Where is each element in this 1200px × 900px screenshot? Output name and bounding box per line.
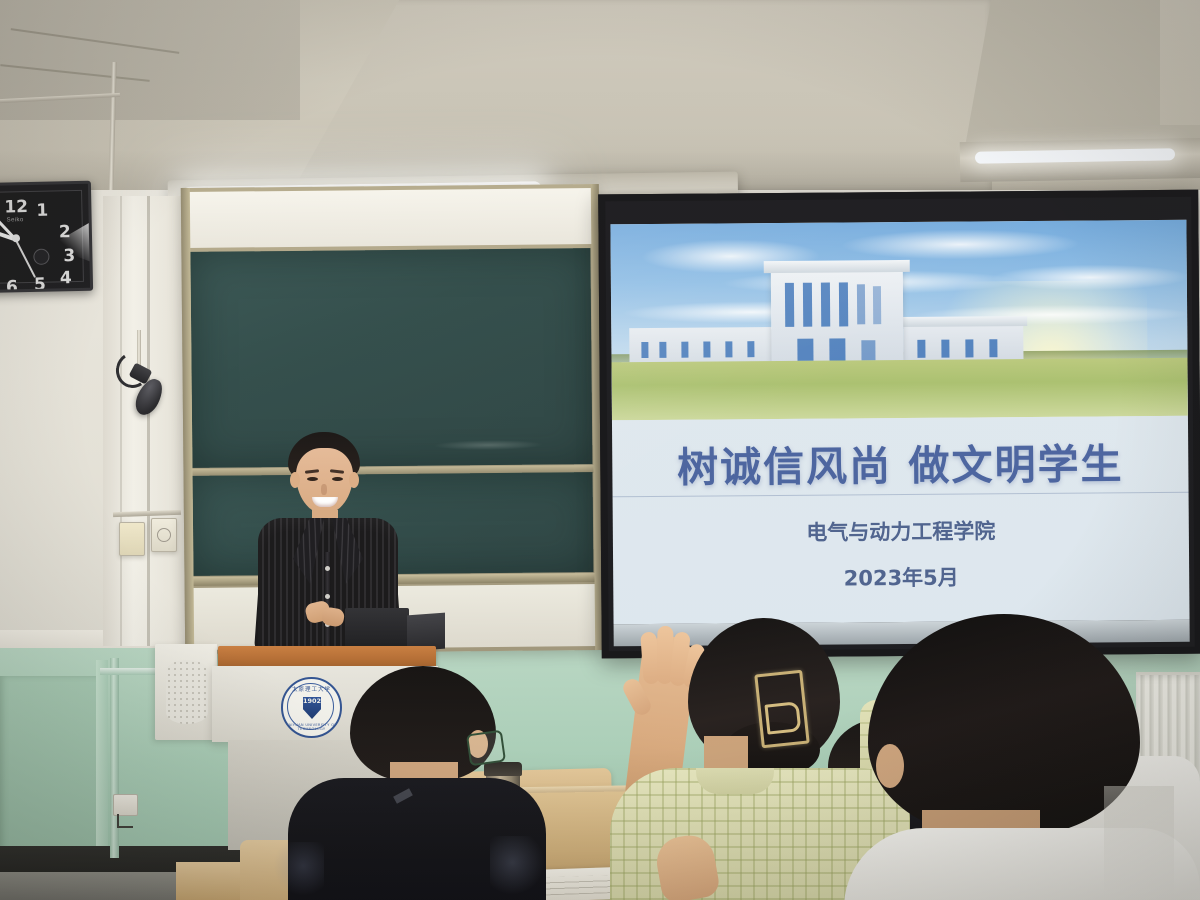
shirt-fold: [1104, 786, 1174, 896]
blackboard-top-panel: [186, 188, 595, 248]
power-outlet[interactable]: [113, 794, 138, 816]
cloud: [840, 229, 1080, 261]
audience-student-white-shirt: [858, 614, 1200, 900]
pillar-seam: [120, 196, 122, 646]
slide-title: 树诚信风尚 做文明学生: [612, 430, 1188, 495]
wall-pipe: [110, 658, 119, 858]
ceiling-beam: [1160, 0, 1200, 125]
presenter-ear: [290, 472, 300, 488]
podium-wood-top: [218, 646, 436, 668]
clock-numeral: 12: [4, 197, 28, 217]
campus-building-main: [771, 268, 904, 367]
cloud: [991, 264, 1188, 292]
presenter-eye: [332, 477, 343, 481]
presenter-eye: [307, 477, 318, 481]
student-hair: [868, 614, 1140, 836]
pillar-seam: [147, 196, 150, 646]
clock-numeral: 5: [34, 275, 46, 294]
clock-numeral: 1: [36, 201, 48, 221]
podium-laptop[interactable]: [345, 608, 409, 650]
clock-numeral: 4: [60, 268, 72, 288]
wall-clock: 11 12 1 2 3 4 5 6 7 Seiko: [0, 181, 93, 294]
slide-date: 2023年5月: [613, 560, 1189, 595]
clock-numeral: 6: [6, 277, 18, 293]
campus-lawn: [612, 358, 1188, 421]
chalk-residue: [433, 440, 543, 451]
slide-organization: 电气与动力工程学院: [613, 514, 1189, 549]
shirt-collar: [696, 768, 774, 794]
ceiling-tiles: [0, 0, 300, 120]
presentation-slide: 树诚信风尚 做文明学生 电气与动力工程学院 2023年5月: [610, 220, 1189, 625]
presenter-nose: [321, 484, 327, 495]
presenter-ear: [349, 472, 359, 488]
student-ear: [876, 744, 904, 788]
wall-switch-plate[interactable]: [151, 518, 177, 552]
slide-header-photo: [610, 220, 1188, 421]
audience-student-black-jacket: [272, 666, 562, 900]
hair-clip-icon: [754, 670, 809, 749]
wall-niche-edge: [96, 660, 108, 860]
presenter-jacket-button: [325, 566, 330, 571]
wall-niche: [0, 676, 100, 852]
jacket-print: [490, 836, 546, 900]
wall-switch-plate[interactable]: [119, 522, 145, 556]
jacket-print: [272, 842, 324, 900]
speaker-grill-icon: [166, 660, 208, 724]
projection-screen: 树诚信风尚 做文明学生 电气与动力工程学院 2023年5月: [598, 190, 1200, 659]
presenter-jacket-button: [325, 594, 330, 599]
classroom-photo: 11 12 1 2 3 4 5 6 7 Seiko: [0, 0, 1200, 900]
clock-brand: Seiko: [7, 217, 24, 223]
eyeglasses-icon: [466, 730, 506, 767]
switch-dial-icon[interactable]: [157, 528, 171, 542]
